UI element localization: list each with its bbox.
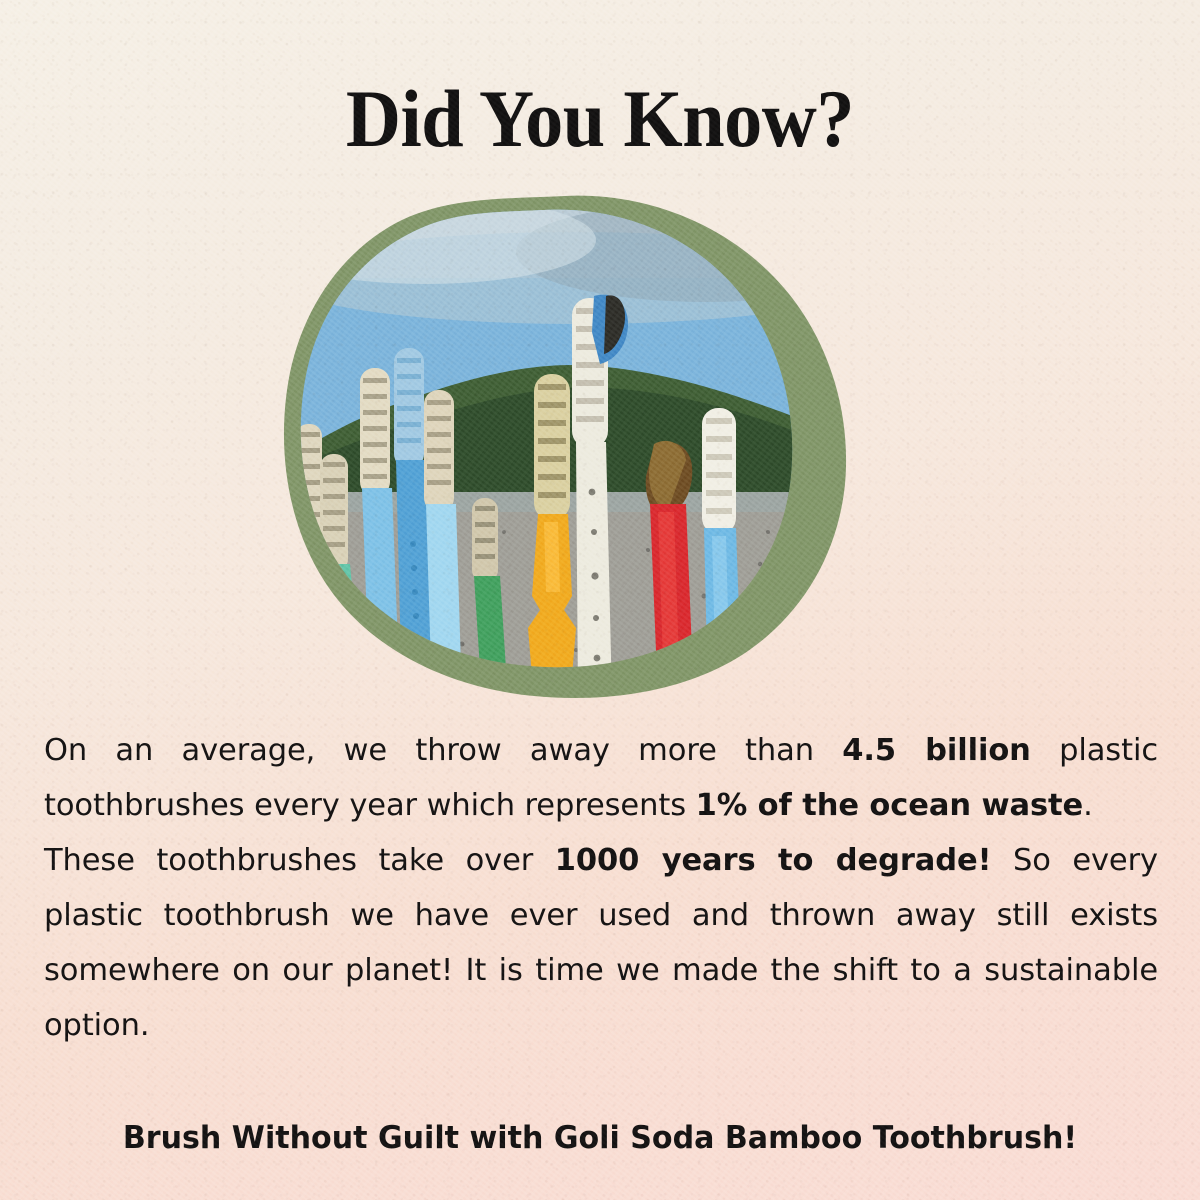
body-copy: On an average, we throw away more than 4…: [44, 723, 1158, 1053]
poster-canvas: Did You Know?: [0, 0, 1200, 1200]
hero-image-block: [276, 192, 852, 700]
p2-segment-1: These toothbrushes take over: [44, 843, 555, 878]
p1-bold-1: 4.5 billion: [842, 733, 1031, 768]
p2-bold-1: 1000 years to degrade!: [555, 843, 992, 878]
p1-segment-1: On an average, we throw away more than: [44, 733, 842, 768]
p1-bold-2: 1% of the ocean waste: [696, 788, 1084, 823]
hero-blob-svg: [276, 192, 852, 700]
tagline: Brush Without Guilt with Goli Soda Bambo…: [18, 1117, 1182, 1159]
paragraph-statistics: On an average, we throw away more than 4…: [44, 723, 1158, 833]
paragraph-degradation: These toothbrushes take over 1000 years …: [44, 833, 1158, 1053]
page-title: Did You Know?: [42, 78, 1158, 160]
p1-segment-3: .: [1083, 788, 1093, 823]
